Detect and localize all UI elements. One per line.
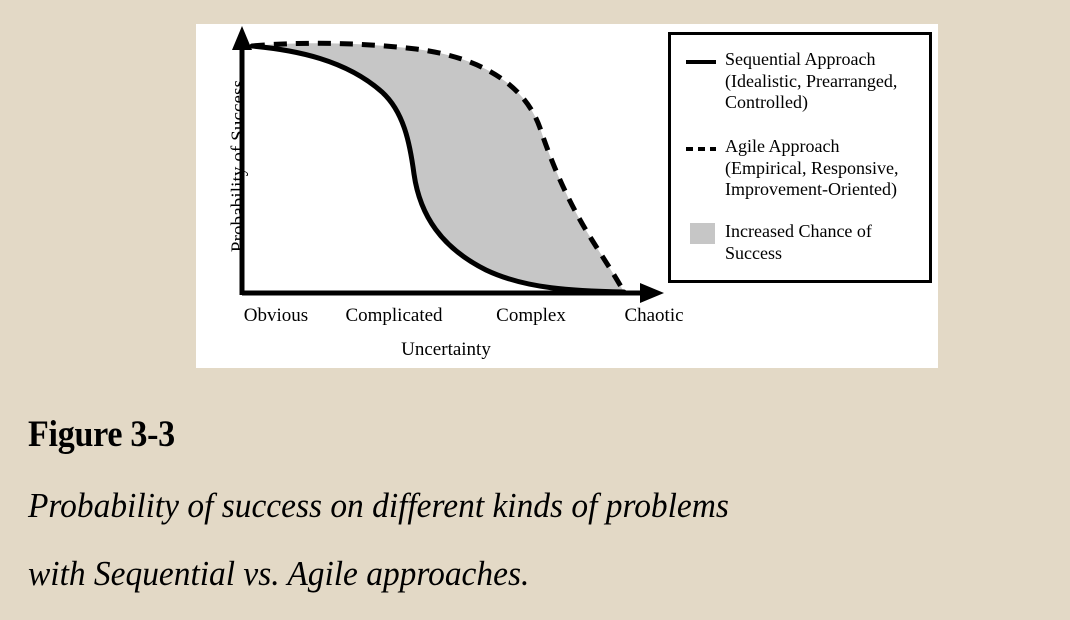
figure-caption-body: Probability of success on different kind… bbox=[28, 472, 1002, 608]
figure-caption-title: Figure 3-3 bbox=[28, 414, 966, 456]
solid-line-icon bbox=[683, 49, 721, 73]
x-axis-title: Uncertainty bbox=[196, 339, 696, 361]
y-axis-title: Probability of Success bbox=[228, 51, 250, 281]
legend-label-agile-approach: Agile Approach (Empirical, Responsive, I… bbox=[725, 136, 923, 201]
legend-entry-increased-chance: Increased Chance of Success bbox=[683, 221, 923, 264]
x-axis-tick-label-chaotic: Chaotic bbox=[554, 305, 754, 327]
gray-swatch-icon bbox=[683, 221, 721, 245]
legend-entry-sequential-approach: Sequential Approach (Idealistic, Prearra… bbox=[683, 49, 923, 114]
x-axis-arrowhead-icon bbox=[640, 283, 664, 303]
legend-label-sequential-approach: Sequential Approach (Idealistic, Prearra… bbox=[725, 49, 923, 114]
chart-legend: Sequential Approach (Idealistic, Prearra… bbox=[668, 32, 932, 283]
y-axis-arrowhead-icon bbox=[232, 26, 252, 50]
dashed-line-icon bbox=[683, 136, 721, 160]
legend-label-increased-chance-of-success: Increased Chance of Success bbox=[725, 221, 923, 264]
figure-caption: Figure 3-3 Probability of success on dif… bbox=[28, 414, 1048, 608]
x-axis-tick-label-complicated: Complicated bbox=[314, 305, 474, 327]
figure-panel: Probability of Success Obvious Complicat… bbox=[196, 24, 938, 368]
legend-entry-agile-approach: Agile Approach (Empirical, Responsive, I… bbox=[683, 136, 923, 201]
shaded-region-increased-chance-of-success bbox=[252, 43, 624, 292]
